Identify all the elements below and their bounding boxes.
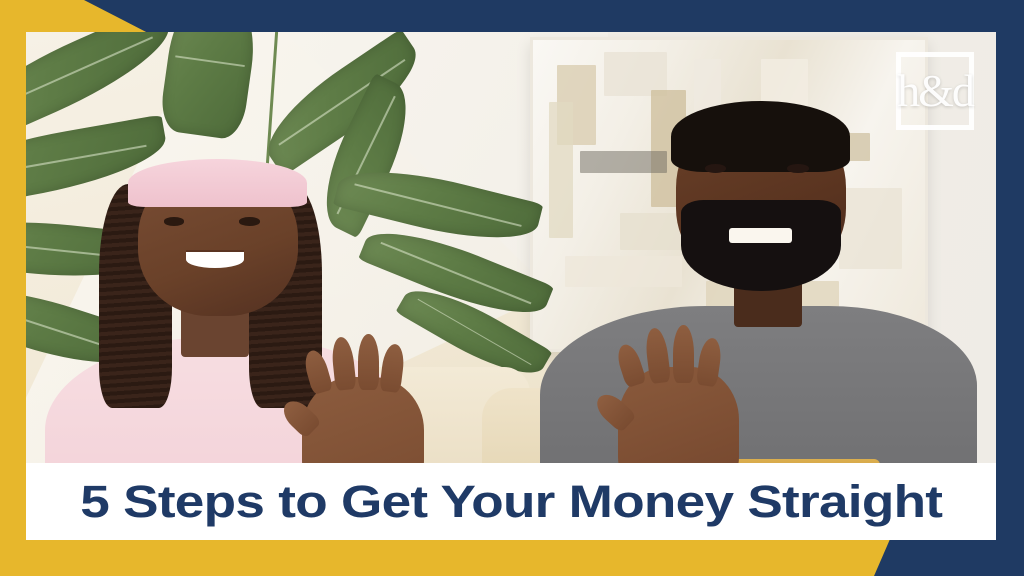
man-hair — [671, 101, 850, 172]
navy-border-top — [0, 0, 1024, 34]
hd-brand-logo: h&d — [896, 52, 974, 130]
woman-eye-right — [239, 217, 259, 225]
man-eye-right — [787, 164, 808, 173]
video-thumbnail: h&d 5 Steps to Get Your Money Straight — [0, 0, 1024, 576]
man-eye-left — [705, 164, 726, 173]
title-band: 5 Steps to Get Your Money Straight — [26, 463, 996, 540]
thumbnail-title: 5 Steps to Get Your Money Straight — [80, 476, 942, 528]
woman-headband — [128, 159, 307, 207]
woman-eye-left — [164, 217, 184, 225]
man-beard — [681, 200, 841, 291]
man-teeth — [729, 228, 792, 243]
woman-smile — [186, 250, 244, 267]
